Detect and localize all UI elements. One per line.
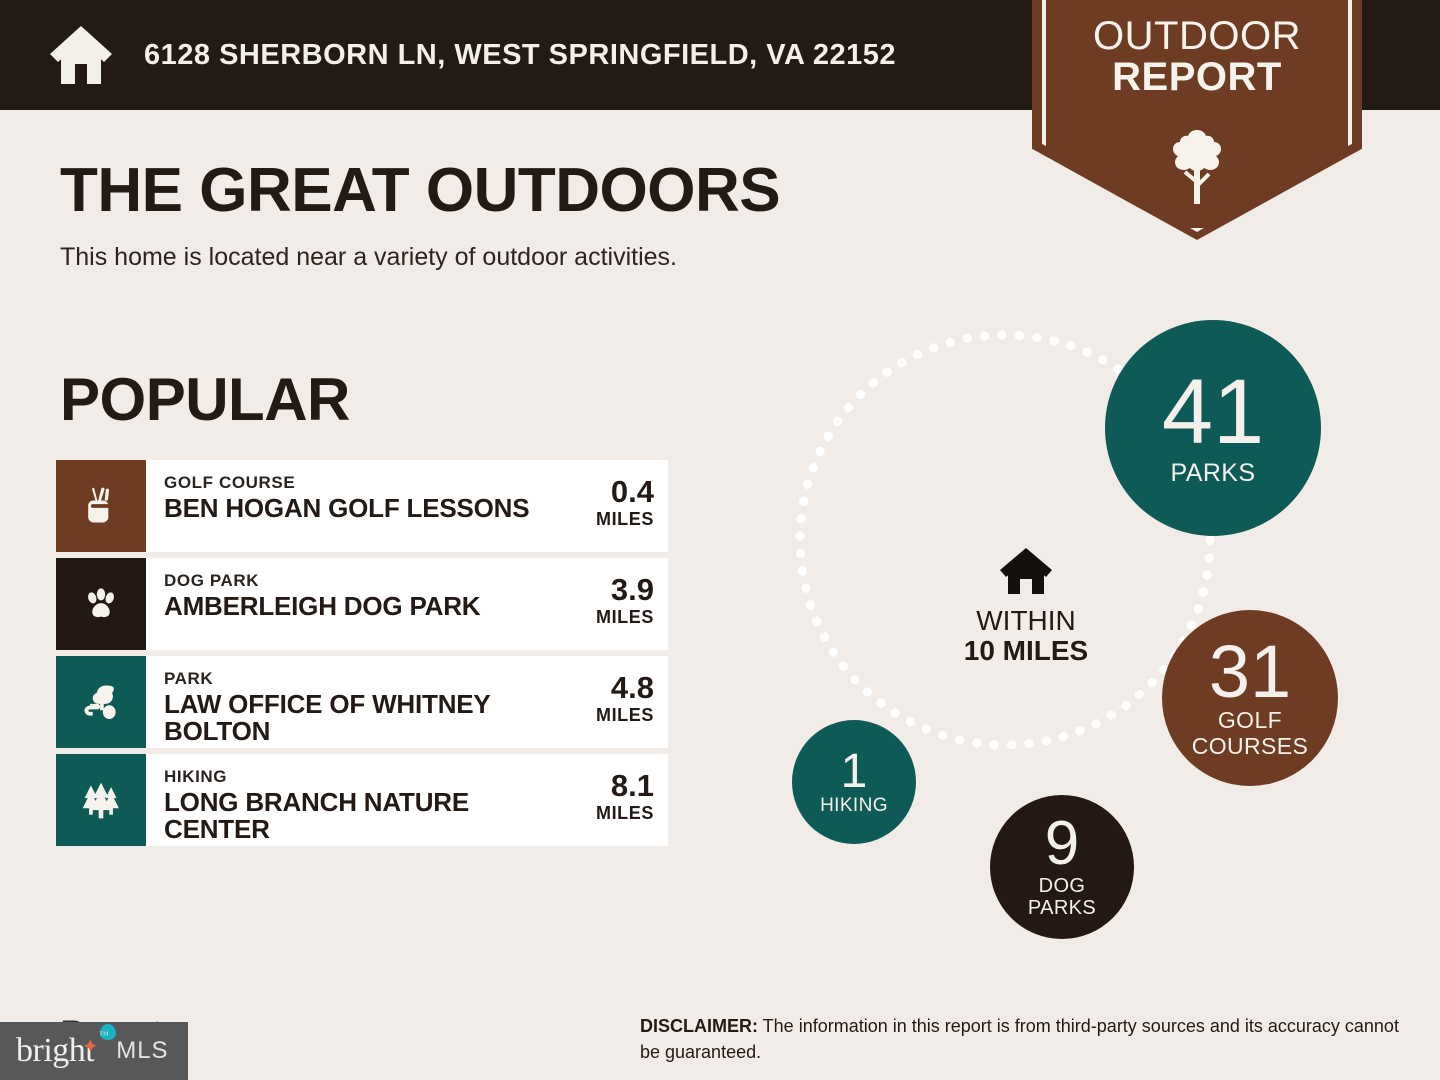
list-item-name: LAW OFFICE OF WHITNEY BOLTON [164,691,550,746]
bubble-golf-courses[interactable]: 31 GOLF COURSES [1162,610,1338,786]
list-item-body: GOLF COURSE BEN HOGAN GOLF LESSONS [146,460,556,552]
list-item-icon-tile [56,656,146,748]
paw-print-icon [80,583,122,625]
bubble-dogs-label-line2: PARKS [1028,898,1096,919]
list-item-name: AMBERLEIGH DOG PARK [164,593,550,620]
outdoor-report-badge: OUTDOOR REPORT [1032,0,1362,240]
list-item[interactable]: GOLF COURSE BEN HOGAN GOLF LESSONS 0.4 M… [56,460,668,552]
distance-value: 3.9 [556,574,654,605]
distance-unit: MILES [556,803,654,824]
header-address: 6128 SHERBORN LN, WEST SPRINGFIELD, VA 2… [144,39,896,72]
logo-mls-text: MLS [116,1037,168,1065]
bubble-parks[interactable]: 41 PARKS [1105,320,1321,536]
list-item-category: GOLF COURSE [164,474,550,493]
logo-tm-mark: ™ [99,1030,108,1041]
logo-star-icon: ✦ [82,1034,98,1059]
bubble-dogs-value: 9 [1045,815,1079,874]
list-item-icon-tile [56,754,146,846]
bubble-parks-value: 41 [1162,369,1264,456]
golf-bag-icon [79,484,123,528]
list-item-category: PARK [164,670,550,689]
bubble-parks-label: PARKS [1171,461,1256,487]
list-item-name: LONG BRANCH NATURE CENTER [164,789,550,844]
popular-list: GOLF COURSE BEN HOGAN GOLF LESSONS 0.4 M… [56,460,668,852]
park-tree-icon [79,680,123,724]
distance-value: 4.8 [556,672,654,703]
distance-unit: MILES [556,705,654,726]
hero-section: THE GREAT OUTDOORS This home is located … [60,158,960,272]
bright-mls-logo: bright ✦ ™ MLS [0,1022,188,1080]
list-item-distance: 0.4 MILES [556,460,668,552]
diagram-center-label: WITHIN 10 MILES [946,546,1106,667]
bubble-hiking-label: HIKING [820,796,888,816]
bubble-hiking[interactable]: 1 HIKING [792,720,916,844]
bubble-dog-parks[interactable]: 9 DOG PARKS [990,795,1134,939]
center-label-line2: 10 MILES [946,635,1106,666]
bubble-golf-label-line2: COURSES [1192,735,1309,759]
list-item-distance: 4.8 MILES [556,656,668,748]
list-item-category: HIKING [164,768,550,787]
list-item-distance: 8.1 MILES [556,754,668,846]
house-icon [48,24,114,86]
badge-text: OUTDOOR REPORT [1032,16,1362,98]
page-subtitle: This home is located near a variety of o… [60,243,960,272]
logo-bright-text: bright ✦ ™ [16,1032,94,1070]
page-title: THE GREAT OUTDOORS [60,158,960,223]
list-item-icon-tile [56,558,146,650]
list-item-distance: 3.9 MILES [556,558,668,650]
popular-heading: POPULAR [60,365,350,434]
outdoor-bubble-chart: 41 PARKS 31 GOLF COURSES 9 DOG PARKS 1 H… [760,300,1400,940]
list-item-body: DOG PARK AMBERLEIGH DOG PARK [146,558,556,650]
bubble-hiking-value: 1 [841,749,868,795]
list-item-icon-tile [56,460,146,552]
list-item[interactable]: HIKING LONG BRANCH NATURE CENTER 8.1 MIL… [56,754,668,846]
bubble-golf-value: 31 [1209,637,1291,707]
distance-value: 8.1 [556,770,654,801]
center-label-line1: WITHIN [946,606,1106,635]
disclaimer: DISCLAIMER: The information in this repo… [640,1014,1400,1065]
list-item[interactable]: PARK LAW OFFICE OF WHITNEY BOLTON 4.8 MI… [56,656,668,748]
distance-unit: MILES [556,607,654,628]
list-item[interactable]: DOG PARK AMBERLEIGH DOG PARK 3.9 MILES [56,558,668,650]
tree-icon [1167,128,1227,206]
list-item-body: PARK LAW OFFICE OF WHITNEY BOLTON [146,656,556,748]
bubble-golf-label-line1: GOLF [1218,709,1282,733]
list-item-name: BEN HOGAN GOLF LESSONS [164,495,550,522]
distance-unit: MILES [556,509,654,530]
bubble-dogs-label-line1: DOG [1039,876,1086,897]
list-item-category: DOG PARK [164,572,550,591]
disclaimer-label: DISCLAIMER: [640,1016,758,1036]
house-icon [998,546,1054,596]
badge-line2: REPORT [1032,57,1362,98]
list-item-body: HIKING LONG BRANCH NATURE CENTER [146,754,556,846]
distance-value: 0.4 [556,476,654,507]
badge-line1: OUTDOOR [1032,16,1362,57]
pine-trees-icon [79,778,123,822]
